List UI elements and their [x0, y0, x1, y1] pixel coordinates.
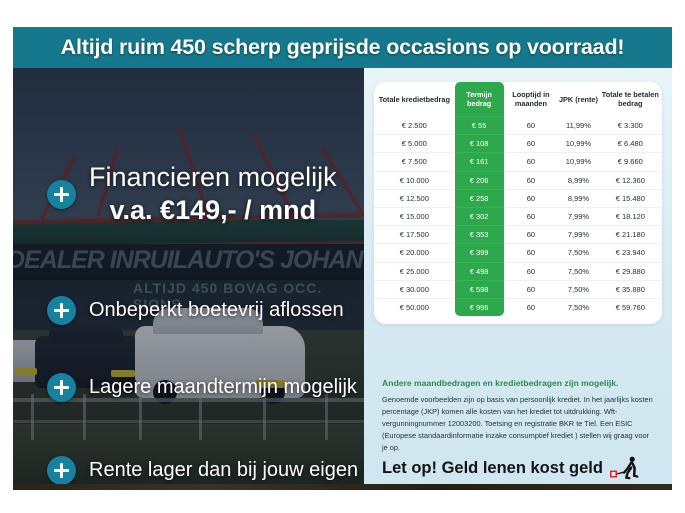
rates-cell: € 12.500: [374, 189, 455, 207]
usp-item-1: Onbeperkt boetevrij aflossen: [47, 296, 344, 325]
table-row: € 50.000€ 996607,50%€ 59.760: [374, 298, 662, 316]
usp-item-2: Lagere maandtermijn mogelijk: [47, 373, 357, 402]
rates-cell: € 10.000: [374, 171, 455, 189]
usp-financiering-line2: v.a. €149,- / mnd: [89, 195, 337, 226]
plus-circle-icon: [47, 373, 76, 402]
rates-cell-highlight: € 498: [455, 262, 504, 280]
rates-cell: 60: [504, 298, 559, 316]
usp-item-2-label: Lagere maandtermijn mogelijk: [89, 376, 357, 399]
rates-cell: € 15.000: [374, 207, 455, 225]
rates-cell: 10,99%: [558, 135, 598, 153]
rates-cell: € 17.500: [374, 226, 455, 244]
rates-header-cell-highlight: Termijn bedrag: [455, 82, 504, 117]
rates-cell-highlight: € 598: [455, 280, 504, 298]
rates-header-cell: Totale te betalen bedrag: [599, 82, 662, 117]
table-row: € 17.500€ 353607,99%€ 21.180: [374, 226, 662, 244]
rates-header-cell: JPK (rente): [558, 82, 598, 117]
rates-cell: 60: [504, 117, 559, 135]
table-row: € 5.000€ 1086010,99%€ 6.480: [374, 135, 662, 153]
rates-cell-highlight: € 161: [455, 153, 504, 171]
rates-cell-highlight: € 353: [455, 226, 504, 244]
rates-cell: € 9.660: [599, 153, 662, 171]
rates-card: Totale kredietbedrag Termijn bedrag Loop…: [374, 82, 662, 324]
table-row: € 2.500€ 556011,99%€ 3.300: [374, 117, 662, 135]
table-row: € 20.000€ 399607,50%€ 23.940: [374, 244, 662, 262]
rates-cell: 60: [504, 207, 559, 225]
plus-circle-icon: [47, 456, 76, 485]
rates-cell: 7,99%: [558, 226, 598, 244]
rates-cell: 7,50%: [558, 280, 598, 298]
advertisement-banner: Altijd ruim 450 scherp geprijsde occasio…: [0, 0, 685, 513]
rates-cell: € 18.120: [599, 207, 662, 225]
rates-table: Totale kredietbedrag Termijn bedrag Loop…: [374, 82, 662, 316]
rates-header-cell: Totale kredietbedrag: [374, 82, 455, 117]
usp-financiering-line1: Financieren mogelijk: [89, 162, 337, 193]
table-row: € 10.000€ 206608,99%€ 12.360: [374, 171, 662, 189]
rates-cell: € 5.000: [374, 135, 455, 153]
rates-cell: € 50.000: [374, 298, 455, 316]
usp-financiering: Financieren mogelijk v.a. €149,- / mnd: [47, 162, 337, 226]
table-row: € 25.000€ 498607,50%€ 29.880: [374, 262, 662, 280]
rates-cell-highlight: € 399: [455, 244, 504, 262]
rates-cell: 60: [504, 262, 559, 280]
rates-cell: 11,99%: [558, 117, 598, 135]
rates-cell: 60: [504, 153, 559, 171]
headline-banner-text: Altijd ruim 450 scherp geprijsde occasio…: [61, 35, 625, 60]
usp-financiering-text: Financieren mogelijk v.a. €149,- / mnd: [89, 162, 337, 226]
rates-cell: 60: [504, 244, 559, 262]
rates-header-row: Totale kredietbedrag Termijn bedrag Loop…: [374, 82, 662, 117]
plus-circle-icon: [47, 180, 76, 209]
rates-cell: € 3.300: [599, 117, 662, 135]
financing-panel: Totale kredietbedrag Termijn bedrag Loop…: [364, 68, 672, 490]
rates-cell: 60: [504, 171, 559, 189]
rates-cell: € 20.000: [374, 244, 455, 262]
photo-artwork: DEALER INRUILAUTO'S JOHAN MEURE ALTIJD 4…: [13, 68, 364, 490]
table-row: € 12.500€ 258608,99%€ 15.480: [374, 189, 662, 207]
rates-cell-highlight: € 996: [455, 298, 504, 316]
rates-cell: € 15.480: [599, 189, 662, 207]
table-row: € 7.500€ 1616010,99%€ 9.660: [374, 153, 662, 171]
footer-strip: [13, 484, 672, 490]
rates-cell: € 2.500: [374, 117, 455, 135]
rates-cell: 60: [504, 189, 559, 207]
photo-dark-overlay: [13, 68, 364, 490]
rates-cell: 10,99%: [558, 153, 598, 171]
disclaimer-block: Andere maandbedragen en kredietbedragen …: [382, 378, 654, 454]
rates-cell-highlight: € 206: [455, 171, 504, 189]
rates-table-body: € 2.500€ 556011,99%€ 3.300€ 5.000€ 10860…: [374, 117, 662, 317]
rates-cell-highlight: € 302: [455, 207, 504, 225]
man-pulling-block-icon: [610, 456, 640, 481]
table-row: € 30.000€ 598607,50%€ 35.880: [374, 280, 662, 298]
rates-cell: 7,50%: [558, 244, 598, 262]
rates-cell: 8,99%: [558, 189, 598, 207]
dealership-photo: DEALER INRUILAUTO'S JOHAN MEURE ALTIJD 4…: [13, 68, 364, 490]
rates-cell-highlight: € 55: [455, 117, 504, 135]
disclaimer-body: Genoemde voorbeelden zijn op basis van p…: [382, 394, 654, 454]
plus-circle-icon: [47, 296, 76, 325]
usp-item-1-label: Onbeperkt boetevrij aflossen: [89, 299, 344, 322]
rates-cell: 7,50%: [558, 298, 598, 316]
rates-cell: 60: [504, 226, 559, 244]
rates-cell-highlight: € 108: [455, 135, 504, 153]
rates-table-head: Totale kredietbedrag Termijn bedrag Loop…: [374, 82, 662, 117]
rates-cell: € 59.760: [599, 298, 662, 316]
rates-cell: € 6.480: [599, 135, 662, 153]
rates-cell: € 21.180: [599, 226, 662, 244]
usp-item-3-label: Rente lager dan bij jouw eigen bank: [89, 459, 364, 482]
rates-cell: € 23.940: [599, 244, 662, 262]
rates-cell: € 12.360: [599, 171, 662, 189]
rates-header-cell: Looptijd in maanden: [504, 82, 559, 117]
credit-warning-text: Let op! Geld lenen kost geld: [382, 459, 603, 478]
rates-cell: 7,99%: [558, 207, 598, 225]
rates-cell: € 7.500: [374, 153, 455, 171]
rates-cell: € 30.000: [374, 280, 455, 298]
rates-cell-highlight: € 258: [455, 189, 504, 207]
headline-banner: Altijd ruim 450 scherp geprijsde occasio…: [13, 27, 672, 68]
rates-cell: 7,50%: [558, 262, 598, 280]
credit-warning: Let op! Geld lenen kost geld: [382, 456, 654, 481]
rates-cell: 8,99%: [558, 171, 598, 189]
disclaimer-heading: Andere maandbedragen en kredietbedragen …: [382, 378, 654, 388]
usp-item-3: Rente lager dan bij jouw eigen bank: [47, 456, 364, 485]
rates-cell: € 35.880: [599, 280, 662, 298]
rates-cell: 60: [504, 280, 559, 298]
table-row: € 15.000€ 302607,99%€ 18.120: [374, 207, 662, 225]
rates-cell: 60: [504, 135, 559, 153]
rates-cell: € 29.880: [599, 262, 662, 280]
rates-cell: € 25.000: [374, 262, 455, 280]
